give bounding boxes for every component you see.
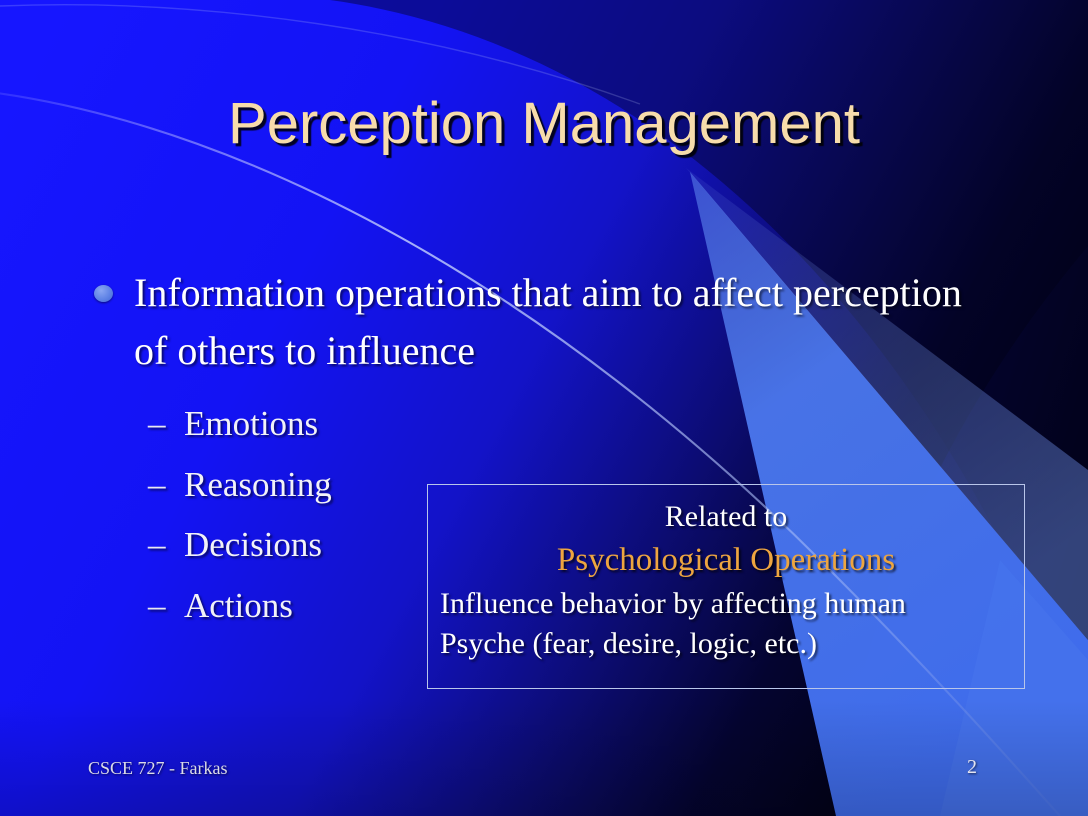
callout-box: Related to Psychological Operations Infl… (427, 484, 1025, 689)
bullet-dot-icon (94, 285, 113, 302)
sub-bullet-text: Decisions (184, 525, 322, 564)
list-item: – Emotions (86, 394, 986, 455)
sub-bullet-text: Actions (184, 586, 293, 625)
presentation-slide: Perception Management Information operat… (0, 0, 1088, 816)
bullet-level1: Information operations that aim to affec… (86, 264, 986, 380)
callout-line-3: Influence behavior by affecting human (428, 584, 1024, 624)
bullet-level1-text: Information operations that aim to affec… (134, 270, 962, 373)
dash-icon: – (148, 394, 166, 455)
callout-line-2: Psychological Operations (428, 537, 1024, 584)
dash-icon: – (148, 576, 166, 637)
sub-bullet-text: Emotions (184, 404, 318, 443)
dash-icon: – (148, 515, 166, 576)
sub-bullet-text: Reasoning (184, 465, 332, 504)
slide-title: Perception Management (0, 94, 1088, 154)
dash-icon: – (148, 455, 166, 516)
slide-footer: CSCE 727 - Farkas (88, 758, 228, 779)
callout-line-1: Related to (428, 497, 1024, 537)
callout-line-4: Psyche (fear, desire, logic, etc.) (428, 624, 1024, 664)
page-number: 2 (952, 756, 992, 779)
